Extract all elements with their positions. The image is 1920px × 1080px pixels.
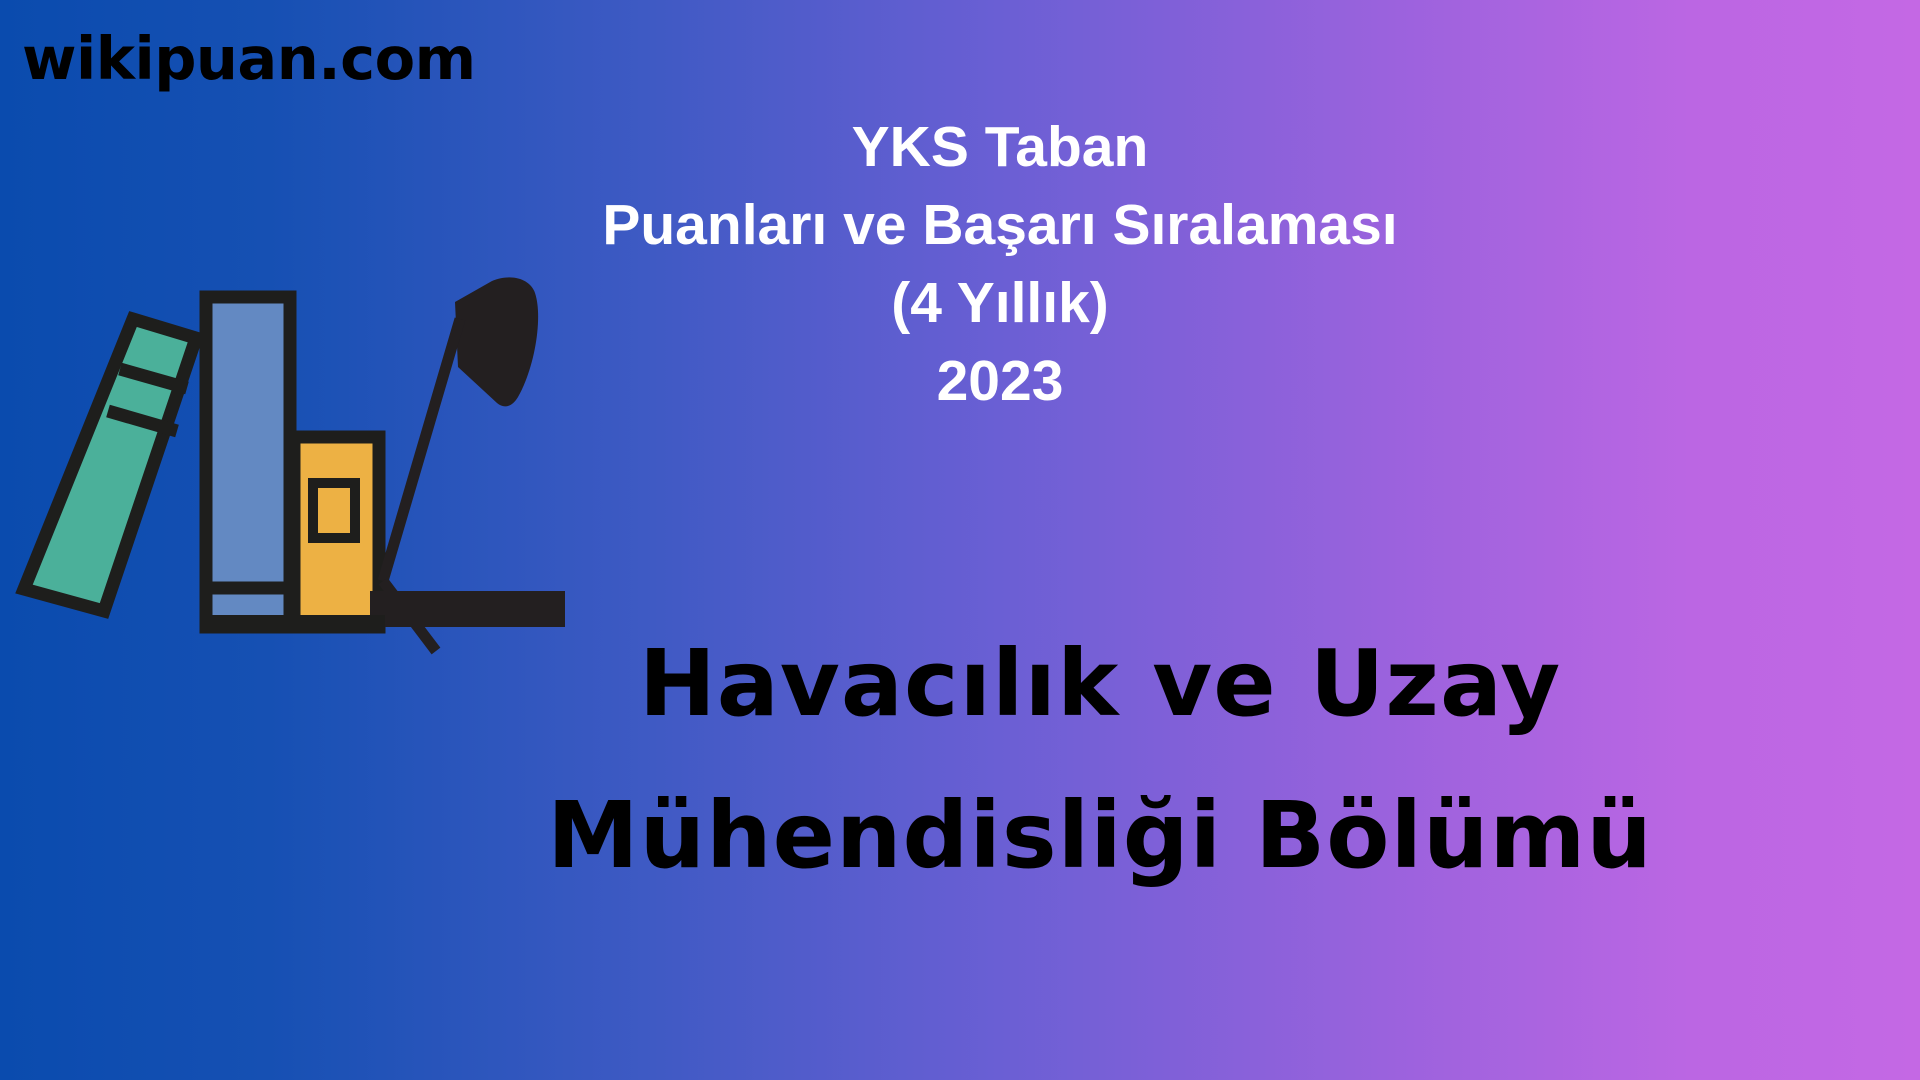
department-line-1: Havacılık ve Uzay	[430, 608, 1770, 760]
headline-line-2: Puanları ve Başarı Sıralaması	[560, 186, 1440, 264]
green-book-icon	[24, 319, 196, 611]
headline-line-3: (4 Yıllık)	[560, 264, 1440, 342]
department-title-block: Havacılık ve Uzay Mühendisliği Bölümü	[430, 608, 1770, 912]
poster-canvas: wikipuan.com	[0, 0, 1920, 1080]
headline-line-4: 2023	[560, 342, 1440, 420]
blue-book-icon	[206, 297, 290, 627]
headline-block: YKS Taban Puanları ve Başarı Sıralaması …	[560, 108, 1440, 420]
headline-line-1: YKS Taban	[560, 108, 1440, 186]
shelf-base	[200, 615, 385, 629]
site-watermark: wikipuan.com	[22, 28, 476, 90]
department-line-2: Mühendisliği Bölümü	[430, 760, 1770, 912]
orange-book-icon	[294, 437, 379, 627]
desk-lamp-icon	[370, 277, 565, 651]
